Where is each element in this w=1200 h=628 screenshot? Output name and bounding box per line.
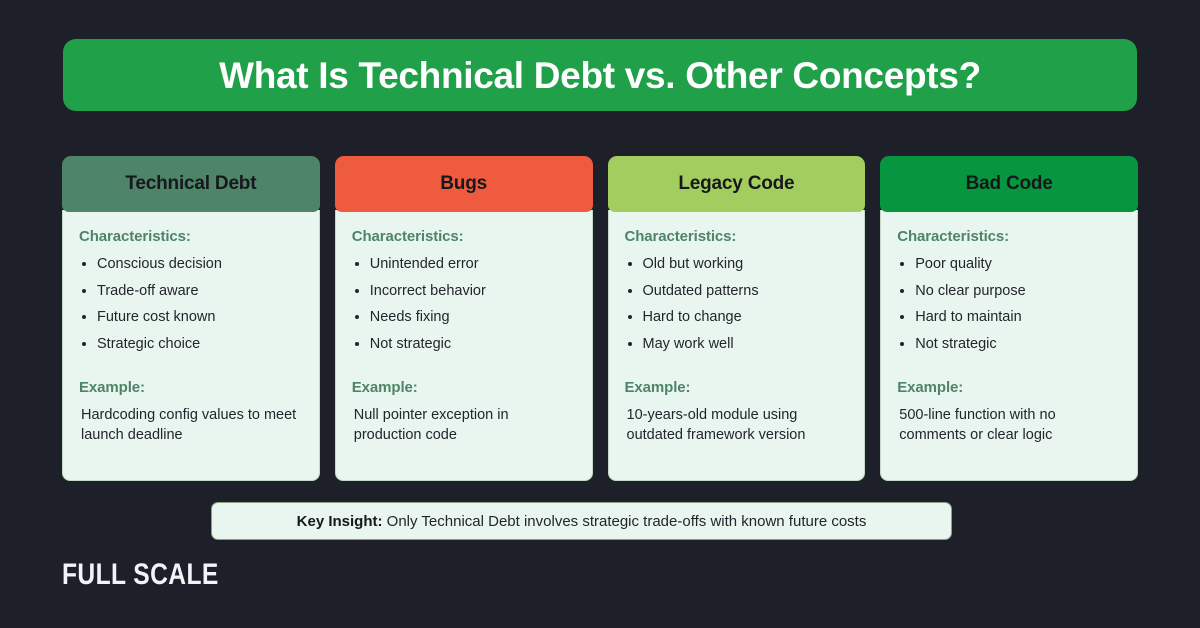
list-item: Unintended error xyxy=(352,256,576,273)
bullet-icon xyxy=(628,289,632,293)
list-item: Hard to maintain xyxy=(897,309,1121,326)
list-item: Not strategic xyxy=(352,336,576,353)
characteristics-label: Characteristics: xyxy=(352,228,576,245)
key-insight-label: Key Insight: xyxy=(297,513,383,530)
bullet-icon xyxy=(355,315,359,319)
list-item-label: Needs fixing xyxy=(370,309,450,325)
key-insight-body: Only Technical Debt involves strategic t… xyxy=(387,513,867,530)
infographic-root: What Is Technical Debt vs. Other Concept… xyxy=(0,0,1200,628)
characteristics-list: Unintended error Incorrect behavior Need… xyxy=(352,256,576,353)
list-item: Trade-off aware xyxy=(79,283,303,300)
list-item: No clear purpose xyxy=(897,283,1121,300)
example-label: Example: xyxy=(625,379,849,396)
characteristics-list: Old but working Outdated patterns Hard t… xyxy=(625,256,849,353)
list-item: Future cost known xyxy=(79,309,303,326)
card-technical-debt: Technical Debt Characteristics: Consciou… xyxy=(62,156,320,481)
bullet-icon xyxy=(900,289,904,293)
list-item-label: Strategic choice xyxy=(97,336,200,352)
card-title: Bugs xyxy=(440,173,487,195)
card-header-technical-debt: Technical Debt xyxy=(62,156,320,212)
bullet-icon xyxy=(82,262,86,266)
title-banner: What Is Technical Debt vs. Other Concept… xyxy=(63,39,1137,111)
list-item: Old but working xyxy=(625,256,849,273)
card-title: Legacy Code xyxy=(678,173,794,195)
list-item-label: Conscious decision xyxy=(97,256,222,272)
characteristics-label: Characteristics: xyxy=(625,228,849,245)
example-text: 10-years-old module using outdated frame… xyxy=(625,405,849,445)
list-item-label: Not strategic xyxy=(915,336,996,352)
bullet-icon xyxy=(900,342,904,346)
card-bugs: Bugs Characteristics: Unintended error I… xyxy=(335,156,593,481)
card-body-bugs: Characteristics: Unintended error Incorr… xyxy=(335,210,593,481)
card-title: Technical Debt xyxy=(125,173,256,195)
list-item-label: Future cost known xyxy=(97,309,215,325)
bullet-icon xyxy=(82,289,86,293)
card-body-bad-code: Characteristics: Poor quality No clear p… xyxy=(880,210,1138,481)
bullet-icon xyxy=(628,342,632,346)
bullet-icon xyxy=(355,342,359,346)
card-title: Bad Code xyxy=(966,173,1053,195)
example-text: Null pointer exception in production cod… xyxy=(352,405,576,445)
list-item-label: No clear purpose xyxy=(915,283,1025,299)
comparison-cards-row: Technical Debt Characteristics: Consciou… xyxy=(62,156,1138,481)
list-item-label: Trade-off aware xyxy=(97,283,199,299)
list-item-label: May work well xyxy=(643,336,734,352)
bullet-icon xyxy=(82,315,86,319)
example-label: Example: xyxy=(352,379,576,396)
example-text: 500-line function with no comments or cl… xyxy=(897,405,1121,445)
list-item: Needs fixing xyxy=(352,309,576,326)
characteristics-list: Conscious decision Trade-off aware Futur… xyxy=(79,256,303,353)
list-item-label: Incorrect behavior xyxy=(370,283,486,299)
bullet-icon xyxy=(900,315,904,319)
card-bad-code: Bad Code Characteristics: Poor quality N… xyxy=(880,156,1138,481)
list-item-label: Hard to change xyxy=(643,309,742,325)
list-item: Outdated patterns xyxy=(625,283,849,300)
key-insight-text: Key Insight: Only Technical Debt involve… xyxy=(297,513,867,530)
list-item: May work well xyxy=(625,336,849,353)
characteristics-label: Characteristics: xyxy=(79,228,303,245)
list-item: Conscious decision xyxy=(79,256,303,273)
list-item-label: Poor quality xyxy=(915,256,992,272)
card-header-bad-code: Bad Code xyxy=(880,156,1138,212)
card-body-technical-debt: Characteristics: Conscious decision Trad… xyxy=(62,210,320,481)
bullet-icon xyxy=(900,262,904,266)
full-scale-logo: FULL SCALE xyxy=(62,558,219,592)
list-item-label: Not strategic xyxy=(370,336,451,352)
list-item-label: Unintended error xyxy=(370,256,479,272)
page-title: What Is Technical Debt vs. Other Concept… xyxy=(219,57,981,94)
list-item: Hard to change xyxy=(625,309,849,326)
bullet-icon xyxy=(628,315,632,319)
list-item: Incorrect behavior xyxy=(352,283,576,300)
characteristics-label: Characteristics: xyxy=(897,228,1121,245)
card-legacy-code: Legacy Code Characteristics: Old but wor… xyxy=(608,156,866,481)
list-item-label: Hard to maintain xyxy=(915,309,1021,325)
list-item: Not strategic xyxy=(897,336,1121,353)
card-body-legacy-code: Characteristics: Old but working Outdate… xyxy=(608,210,866,481)
bullet-icon xyxy=(355,289,359,293)
list-item-label: Outdated patterns xyxy=(643,283,759,299)
list-item: Strategic choice xyxy=(79,336,303,353)
characteristics-list: Poor quality No clear purpose Hard to ma… xyxy=(897,256,1121,353)
example-label: Example: xyxy=(897,379,1121,396)
key-insight-bar: Key Insight: Only Technical Debt involve… xyxy=(211,502,952,540)
card-header-bugs: Bugs xyxy=(335,156,593,212)
bullet-icon xyxy=(82,342,86,346)
example-text: Hardcoding config values to meet launch … xyxy=(79,405,303,445)
bullet-icon xyxy=(355,262,359,266)
bullet-icon xyxy=(628,262,632,266)
card-header-legacy-code: Legacy Code xyxy=(608,156,866,212)
example-label: Example: xyxy=(79,379,303,396)
list-item-label: Old but working xyxy=(643,256,744,272)
list-item: Poor quality xyxy=(897,256,1121,273)
